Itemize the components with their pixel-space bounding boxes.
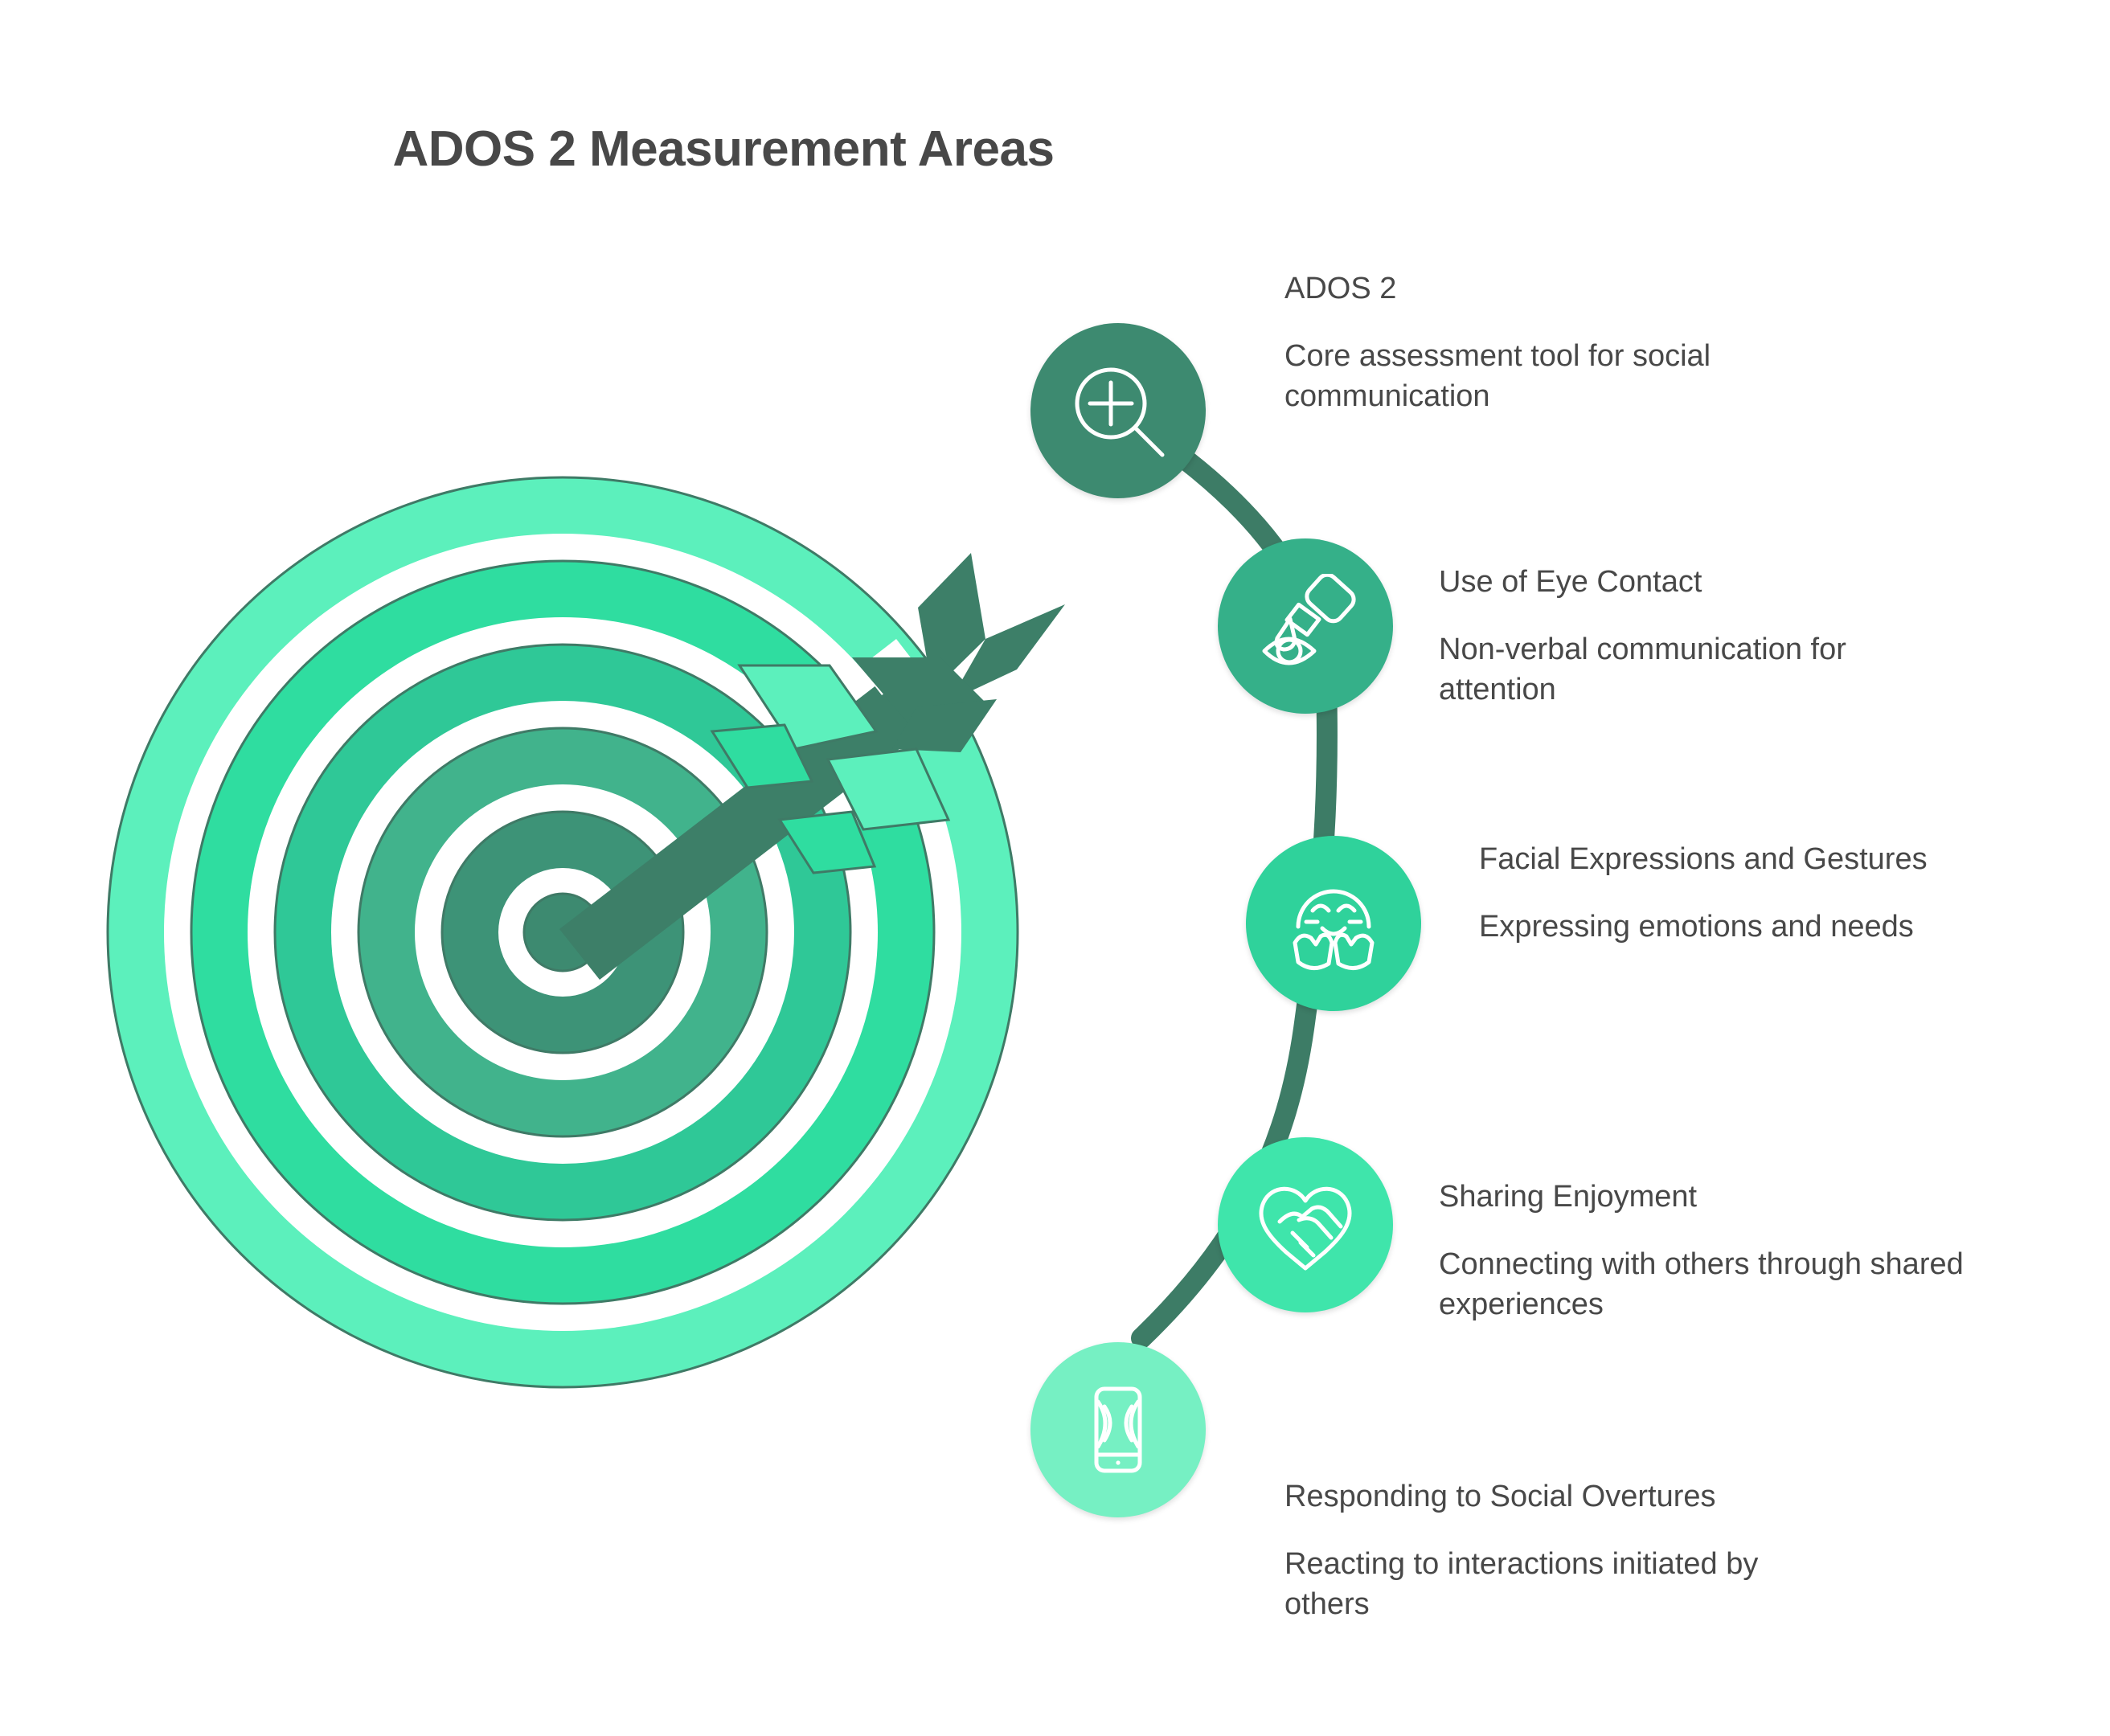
item-title: Facial Expressions and Gestures — [1479, 840, 1929, 879]
target-bullseye-graphic — [104, 466, 1125, 1398]
magnifier-plus-icon — [1066, 358, 1170, 463]
eye-dropper-icon — [1253, 574, 1358, 678]
text-block-ados-2: ADOS 2 Core assessment tool for social c… — [1284, 269, 1847, 416]
node-sharing-enjoyment[interactable] — [1218, 1137, 1393, 1312]
measurement-areas-flow — [1005, 305, 1455, 1543]
item-title: Responding to Social Overtures — [1284, 1477, 1847, 1517]
text-block-facial-expressions: Facial Expressions and Gestures Expressi… — [1479, 840, 1929, 947]
text-block-eye-contact: Use of Eye Contact Non-verbal communicat… — [1439, 563, 1969, 710]
node-ados-2[interactable] — [1030, 323, 1206, 498]
node-social-overtures[interactable] — [1030, 1342, 1206, 1517]
item-description: Core assessment tool for social communic… — [1284, 336, 1847, 416]
item-title: ADOS 2 — [1284, 269, 1847, 309]
item-description: Connecting with others through shared ex… — [1439, 1244, 1985, 1325]
text-block-sharing-enjoyment: Sharing Enjoyment Connecting with others… — [1439, 1177, 1985, 1325]
node-facial-expressions[interactable] — [1246, 836, 1421, 1011]
item-description: Non-verbal communication for attention — [1439, 629, 1969, 710]
text-block-social-overtures: Responding to Social Overtures Reacting … — [1284, 1477, 1847, 1624]
phone-vibration-icon — [1066, 1378, 1170, 1482]
item-title: Use of Eye Contact — [1439, 563, 1969, 602]
smiling-face-hands-icon — [1279, 869, 1388, 978]
node-eye-contact[interactable] — [1218, 538, 1393, 714]
item-title: Sharing Enjoyment — [1439, 1177, 1985, 1217]
heart-handshake-icon — [1251, 1170, 1360, 1279]
page-title: ADOS 2 Measurement Areas — [0, 121, 1447, 178]
item-description: Expressing emotions and needs — [1479, 907, 1929, 947]
item-description: Reacting to interactions initiated by ot… — [1284, 1544, 1847, 1624]
